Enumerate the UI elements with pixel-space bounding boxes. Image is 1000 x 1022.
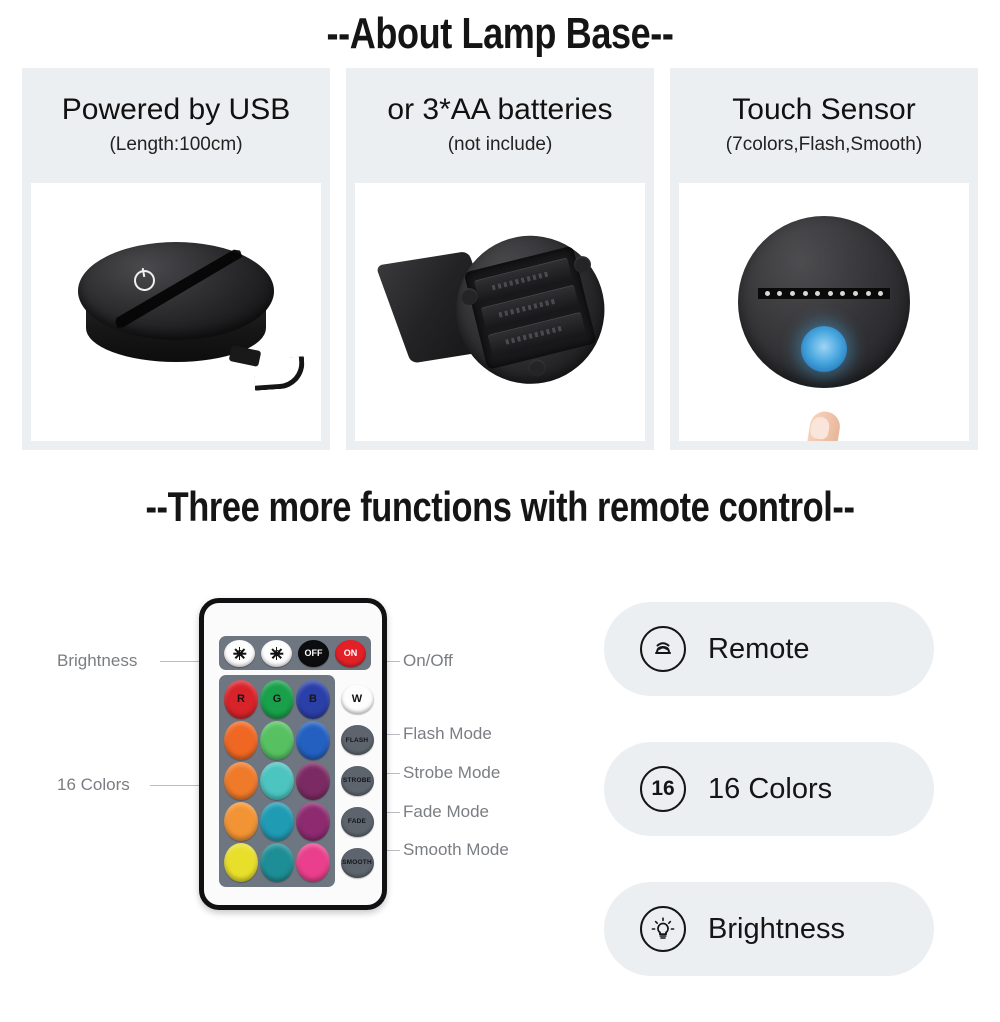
feature-label: 16 Colors xyxy=(708,773,832,806)
usb-cord xyxy=(253,356,306,390)
smooth-button[interactable]: SMOOTH xyxy=(341,848,374,878)
lightbulb-glyph xyxy=(649,915,677,943)
brightness-down-button[interactable] xyxy=(224,640,255,667)
color-button[interactable] xyxy=(224,721,258,760)
power-off-button[interactable]: OFF xyxy=(298,640,329,667)
lamp-base-illustration xyxy=(78,242,274,392)
callout-smooth-mode: Smooth Mode xyxy=(403,840,509,860)
white-button[interactable]: W xyxy=(341,684,374,714)
color-button-blue[interactable]: B xyxy=(296,680,330,719)
color-button[interactable] xyxy=(224,843,258,882)
fade-button[interactable]: FADE xyxy=(341,807,374,837)
color-button[interactable] xyxy=(296,762,330,801)
feature-pill-group: Remote 16 16 Colors Brig xyxy=(604,602,934,1022)
lamp-base-battery-compartment-photo xyxy=(355,183,645,441)
base-body xyxy=(449,229,612,392)
remote-top-button-row: OFF ON xyxy=(219,636,371,670)
card-title: Touch Sensor xyxy=(732,93,915,127)
color-button[interactable] xyxy=(296,721,330,760)
color-button-green[interactable]: G xyxy=(260,680,294,719)
color-button[interactable] xyxy=(296,843,330,882)
feature-label: Brightness xyxy=(708,913,845,946)
card-header: Powered by USB (Length:100cm) xyxy=(31,78,321,183)
card-subtitle: (7colors,Flash,Smooth) xyxy=(726,133,922,157)
lamp-base-touch-sensor-photo xyxy=(679,183,969,441)
color-button[interactable] xyxy=(224,802,258,841)
touch-button-glow xyxy=(801,326,847,372)
page-title-about-lamp-base: --About Lamp Base-- xyxy=(90,8,910,60)
power-on-button[interactable]: ON xyxy=(335,640,366,667)
color-button-red[interactable]: R xyxy=(224,680,258,719)
fingernail xyxy=(809,416,830,441)
callout-brightness: Brightness xyxy=(57,651,137,671)
battery-compartment-illustration xyxy=(387,223,613,412)
feature-pill-remote: Remote xyxy=(604,602,934,696)
index-finger xyxy=(794,409,842,441)
remote-signal-glyph xyxy=(649,635,677,663)
sun-dim-icon xyxy=(233,647,246,660)
feature-pill-brightness: Brightness xyxy=(604,882,934,976)
lightbulb-icon xyxy=(640,906,686,952)
callout-on-off: On/Off xyxy=(403,651,453,671)
callout-fade-mode: Fade Mode xyxy=(403,802,489,822)
page-title-remote-functions: --Three more functions with remote contr… xyxy=(90,482,910,532)
lamp-base-card-group: Powered by USB (Length:100cm) or 3*AA ba… xyxy=(22,68,978,450)
color-button[interactable] xyxy=(224,762,258,801)
card-title: or 3*AA batteries xyxy=(387,93,612,127)
card-aa-batteries: or 3*AA batteries (not include) xyxy=(346,68,654,450)
remote-control-section: Brightness 16 Colors On/Off Flash Mode S… xyxy=(0,560,1000,980)
remote-mode-button-column: W FLASH STROBE FADE SMOOTH xyxy=(337,675,377,887)
touch-sensor-illustration xyxy=(738,216,910,388)
color-button[interactable] xyxy=(260,802,294,841)
callout-flash-mode: Flash Mode xyxy=(403,724,492,744)
card-header: or 3*AA batteries (not include) xyxy=(355,78,645,183)
brightness-up-button[interactable] xyxy=(261,640,292,667)
strobe-button[interactable]: STROBE xyxy=(341,766,374,796)
rubber-foot xyxy=(528,359,547,378)
feature-pill-16-colors: 16 16 Colors xyxy=(604,742,934,836)
color-button[interactable] xyxy=(296,802,330,841)
card-subtitle: (Length:100cm) xyxy=(109,133,242,157)
color-button[interactable] xyxy=(260,762,294,801)
circle-number-icon: 16 xyxy=(640,766,686,812)
callout-16-colors: 16 Colors xyxy=(57,775,130,795)
card-subtitle: (not include) xyxy=(448,133,553,157)
callout-strobe-mode: Strobe Mode xyxy=(403,763,500,783)
color-button[interactable] xyxy=(260,843,294,882)
sun-bright-icon xyxy=(270,647,283,660)
card-title: Powered by USB xyxy=(62,93,290,127)
color-button[interactable] xyxy=(260,721,294,760)
remote-signal-icon xyxy=(640,626,686,672)
remote-control: OFF ON R G B W FLASH STROBE FADE SMO xyxy=(199,598,387,910)
color-count-badge: 16 xyxy=(651,777,674,801)
lamp-base-usb-photo xyxy=(31,183,321,441)
flash-button[interactable]: FLASH xyxy=(341,725,374,755)
feature-label: Remote xyxy=(708,633,810,666)
remote-color-grid: R G B xyxy=(219,675,335,887)
card-touch-sensor: Touch Sensor (7colors,Flash,Smooth) xyxy=(670,68,978,450)
led-strip xyxy=(758,288,890,299)
card-powered-by-usb: Powered by USB (Length:100cm) xyxy=(22,68,330,450)
card-header: Touch Sensor (7colors,Flash,Smooth) xyxy=(679,78,969,183)
